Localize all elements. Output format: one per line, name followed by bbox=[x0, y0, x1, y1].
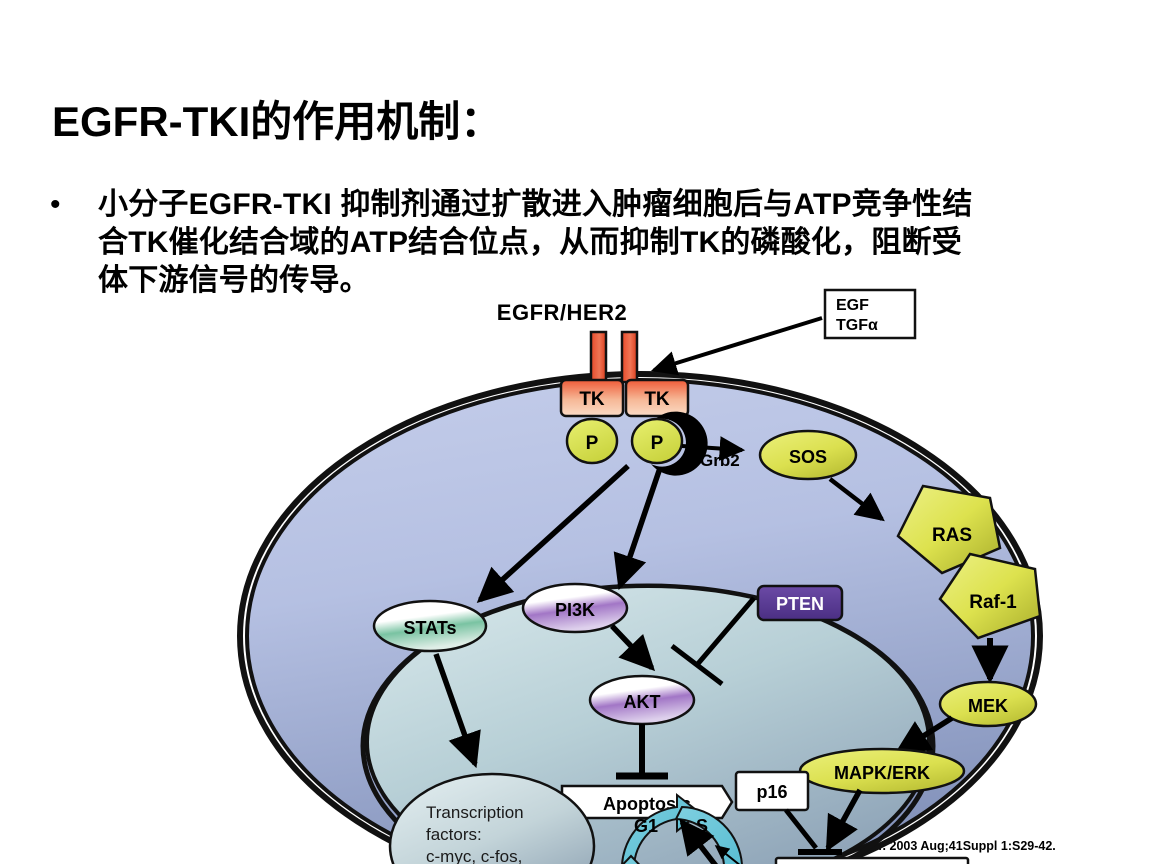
bullet-marker: • bbox=[44, 186, 98, 224]
cellcycle-g1-label: G1 bbox=[634, 816, 658, 836]
page-title: EGFR-TKI的作用机制： bbox=[52, 88, 502, 149]
bullet-body-text: 小分子EGFR-TKI 抑制剂通过扩散进入肿瘤细胞后与ATP竞争性结合TK催化结… bbox=[98, 186, 978, 300]
stats-node: STATs bbox=[374, 601, 486, 651]
tgfa-label: TGFα bbox=[836, 317, 878, 334]
egf-label: EGF bbox=[836, 297, 869, 314]
grb2-label: Grb2 bbox=[700, 451, 740, 470]
slide-canvas: EGFR-TKI的作用机制： • 小分子EGFR-TKI 抑制剂通过扩散进入肿瘤… bbox=[0, 0, 1152, 864]
ligand-box: EGF TGFα bbox=[825, 290, 915, 338]
sos-node: SOS bbox=[760, 431, 856, 479]
p16-node: p16 bbox=[736, 772, 808, 810]
mek-node: MEK bbox=[940, 682, 1036, 726]
tk-left-label: TK bbox=[579, 389, 605, 410]
p16-label: p16 bbox=[756, 782, 787, 802]
signaling-pathway-figure: TK TK P P EGFR/HER2 EGF TGFα Grb2 SOS bbox=[230, 286, 1130, 846]
mek-label: MEK bbox=[968, 696, 1008, 716]
pi3k-label: PI3K bbox=[555, 600, 595, 620]
akt-node: AKT bbox=[590, 676, 694, 724]
bullet-list: • 小分子EGFR-TKI 抑制剂通过扩散进入肿瘤细胞后与ATP竞争性结合TK催… bbox=[44, 186, 1064, 300]
tk-right-label: TK bbox=[644, 389, 670, 410]
mapk-erk-node: MAPK/ERK bbox=[800, 749, 964, 793]
cyclin-cdk-node: Cyclin D1:CDK4,6 Cyclin E: CDK2 bbox=[776, 858, 968, 864]
phospho-right-label: P bbox=[651, 433, 664, 454]
tf-line-1: Transcription bbox=[426, 803, 524, 822]
egfr-her2-label: EGFR/HER2 bbox=[497, 300, 627, 325]
pten-node: PTEN bbox=[758, 586, 842, 620]
tf-line-3: c-myc, c-fos, bbox=[426, 847, 522, 864]
phospho-left-label: P bbox=[586, 433, 599, 454]
raf1-label: Raf-1 bbox=[969, 592, 1017, 613]
ras-label: RAS bbox=[932, 525, 972, 546]
tf-line-2: factors: bbox=[426, 825, 482, 844]
stats-label: STATs bbox=[404, 618, 457, 638]
sos-label: SOS bbox=[789, 447, 827, 467]
mapk-erk-label: MAPK/ERK bbox=[834, 763, 930, 783]
pten-label: PTEN bbox=[776, 594, 824, 614]
pi3k-node: PI3K bbox=[523, 584, 627, 632]
akt-label: AKT bbox=[624, 692, 661, 712]
cellcycle-s-label: S bbox=[696, 816, 708, 836]
